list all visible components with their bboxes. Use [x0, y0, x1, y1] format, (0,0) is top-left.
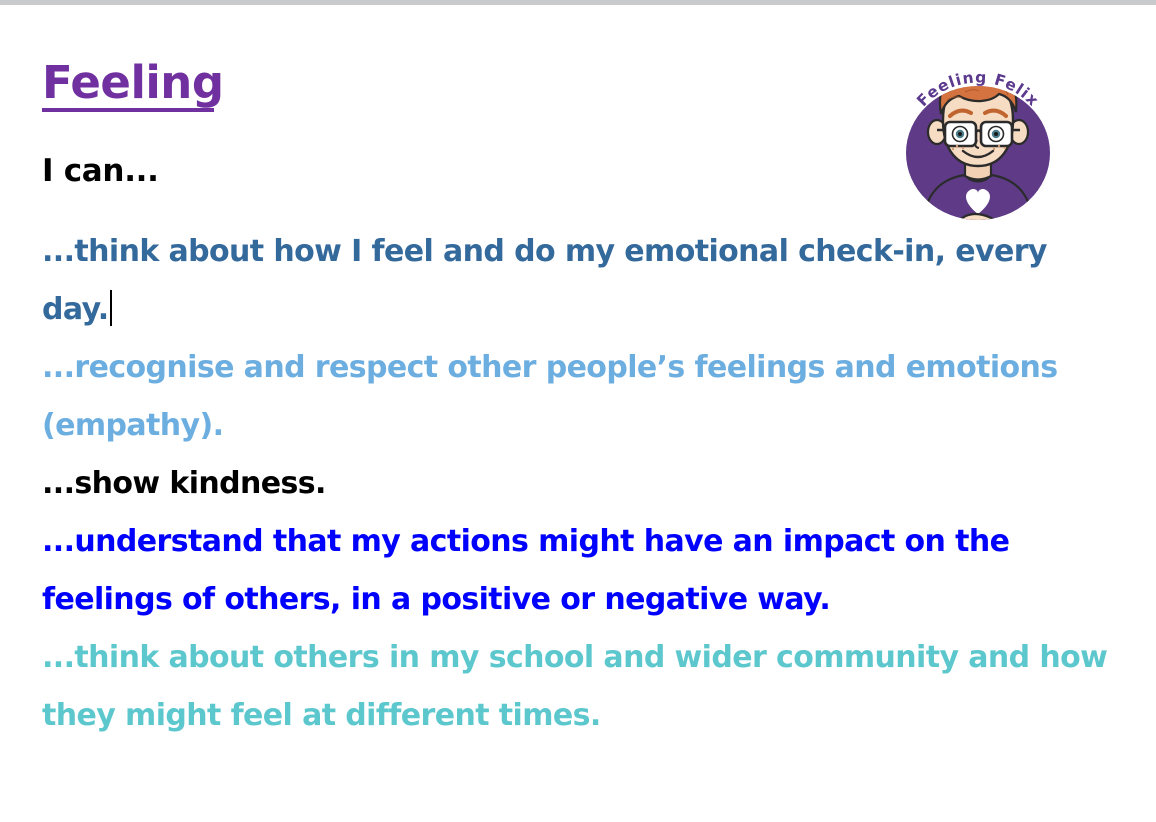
objective-line-3[interactable]: ...show kindness. — [42, 455, 1122, 513]
subtitle-i-can[interactable]: I can... — [42, 153, 159, 189]
objective-line-1[interactable]: ...think about how I feel and do my emot… — [42, 223, 1122, 339]
objective-line-5[interactable]: ...think about others in my school and w… — [42, 629, 1122, 745]
slide-canvas: Feeling I can... ...think about how I fe… — [0, 5, 1156, 822]
objective-line-4[interactable]: ...understand that my actions might have… — [42, 513, 1122, 629]
text-cursor — [110, 290, 112, 326]
objective-line-2[interactable]: ...recognise and respect other people’s … — [42, 339, 1122, 455]
page-title[interactable]: Feeling — [42, 60, 224, 112]
page-title-text: Feeling — [42, 60, 224, 105]
objectives-textbox[interactable]: ...think about how I feel and do my emot… — [42, 223, 1122, 745]
feeling-felix-logo: Feeling Felix — [895, 50, 1060, 225]
objective-line-1-text: ...think about how I feel and do my emot… — [42, 234, 1047, 327]
